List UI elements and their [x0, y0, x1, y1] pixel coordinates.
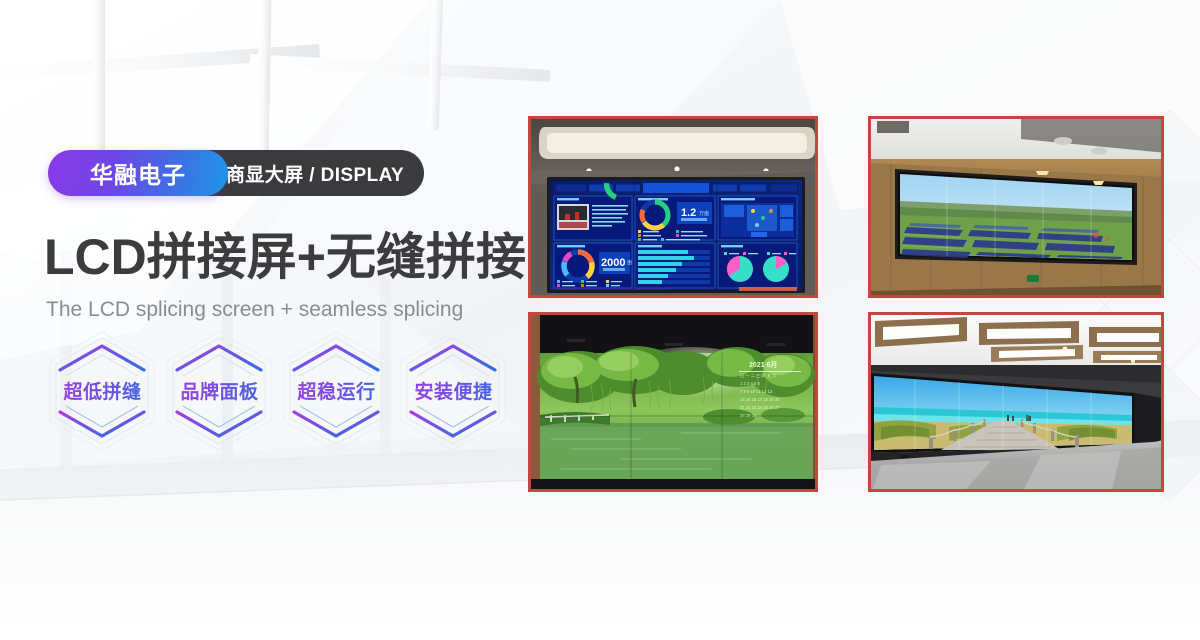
beach-boardwalk-video-wall-image	[871, 315, 1161, 489]
brand-pill-row: 商显大屏 / DISPLAY 华融电子	[48, 150, 228, 196]
banner-stage: 商显大屏 / DISPLAY 华融电子 LCD拼接屏+无缝拼接 The LCD …	[0, 0, 1200, 640]
left-content: 商显大屏 / DISPLAY 华融电子 LCD拼接屏+无缝拼接 The LCD …	[0, 0, 520, 640]
svg-text:7 8 9 10 11 12 13: 7 8 9 10 11 12 13	[740, 389, 773, 394]
svg-text:2021 6月: 2021 6月	[749, 361, 777, 369]
svg-text:28 29 30: 28 29 30	[740, 413, 757, 418]
feature-badge-label: 安装便捷	[395, 377, 512, 404]
svg-text:亩: 亩	[627, 259, 632, 266]
svg-text:1.2: 1.2	[681, 207, 696, 219]
svg-text:21 22 23 24 25 26 27: 21 22 23 24 25 26 27	[740, 405, 780, 410]
feature-badge: 超稳运行	[278, 330, 395, 452]
photo-inner	[871, 119, 1161, 295]
feature-badge-list: 超低拼缝 品牌面板	[44, 330, 514, 452]
svg-text:日 一 二 三 四 五 六: 日 一 二 三 四 五 六	[740, 372, 776, 379]
feature-badge: 品牌面板	[161, 330, 278, 452]
willow-lake-video-wall-image: 2021 6月 日 一 二 三 四 五 六 1 2 3 4 5 6 7 8 9 …	[531, 315, 815, 489]
feature-badge-label: 品牌面板	[161, 377, 278, 404]
photo-willow-lake-video-wall: 2021 6月 日 一 二 三 四 五 六 1 2 3 4 5 6 7 8 9 …	[528, 312, 818, 492]
brand-pill: 华融电子	[48, 150, 228, 196]
svg-text:14 15 16 17 18 19 20: 14 15 16 17 18 19 20	[740, 397, 780, 402]
svg-text:万亩: 万亩	[699, 210, 709, 217]
svg-text:2000: 2000	[601, 257, 625, 269]
page-subtitle: The LCD splicing screen + seamless splic…	[46, 296, 463, 324]
feature-badge-label: 超低拼缝	[44, 377, 161, 404]
page-title: LCD拼接屏+无缝拼接	[44, 228, 526, 286]
solar-farm-video-wall-image	[871, 119, 1161, 295]
photo-inner	[871, 315, 1161, 489]
photo-solar-farm-video-wall	[868, 116, 1164, 298]
photo-beach-boardwalk-video-wall	[868, 312, 1164, 492]
photo-grid: 1.2 万亩	[528, 116, 1164, 492]
photo-inner: 1.2 万亩	[531, 119, 815, 295]
feature-badge: 超低拼缝	[44, 330, 161, 452]
photo-dashboard-video-wall: 1.2 万亩	[528, 116, 818, 298]
feature-badge-label: 超稳运行	[278, 377, 395, 404]
feature-badge: 安装便捷	[395, 330, 512, 452]
svg-text:1 2 3 4 5 6: 1 2 3 4 5 6	[740, 381, 760, 386]
photo-inner: 2021 6月 日 一 二 三 四 五 六 1 2 3 4 5 6 7 8 9 …	[531, 315, 815, 489]
dashboard-video-wall-image: 1.2 万亩	[531, 119, 815, 295]
